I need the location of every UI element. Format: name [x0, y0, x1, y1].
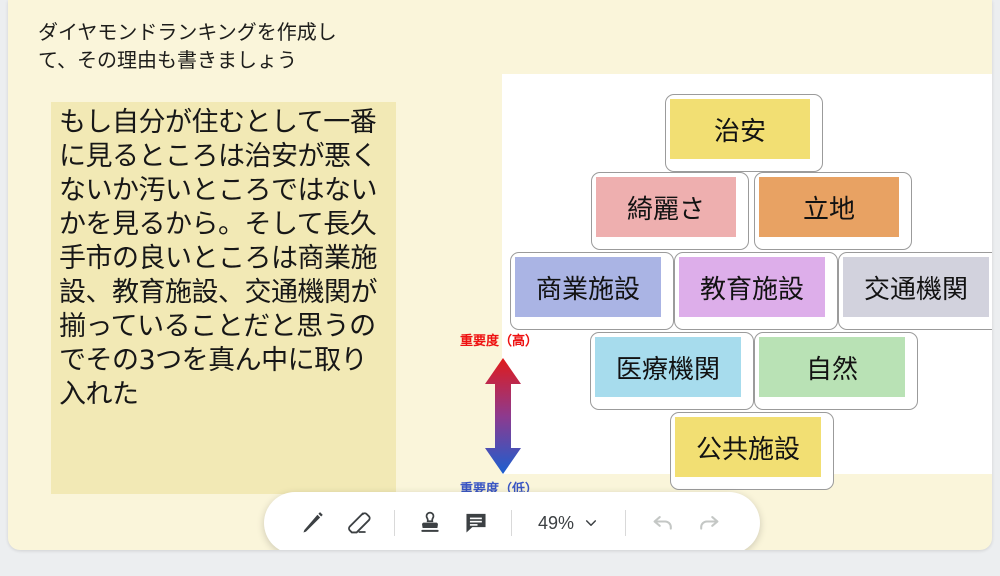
rank-box-fill: 商業施設 [515, 257, 661, 317]
rank-box-label: 治安 [714, 111, 766, 148]
rank-box-fill: 立地 [759, 177, 899, 237]
rank-box[interactable]: 商業施設 [510, 252, 674, 330]
diamond-ranking-panel: 治安綺麗さ立地商業施設教育施設交通機関医療機関自然公共施設 [502, 74, 992, 474]
rank-box-label: 医療機関 [616, 349, 720, 386]
rank-box-fill: 医療機関 [595, 337, 741, 397]
rank-box-label: 商業施設 [536, 269, 640, 306]
rank-box-label: 自然 [806, 349, 858, 386]
zoom-level-dropdown[interactable]: 49% [524, 503, 613, 543]
eraser-icon [346, 510, 372, 536]
undo-button[interactable] [640, 500, 686, 546]
reason-textbox[interactable]: もし自分が住むとして一番に見るところは治安が悪くないか汚いところではないかを見る… [51, 102, 396, 494]
rank-box[interactable]: 交通機関 [838, 252, 992, 330]
rank-box-fill: 綺麗さ [596, 177, 736, 237]
rank-box[interactable]: 治安 [665, 94, 823, 172]
importance-scale: 重要度（高） 重要度（低） [460, 330, 570, 498]
rank-box[interactable]: 立地 [754, 172, 912, 250]
comment-tool-button[interactable] [453, 500, 499, 546]
rank-box-label: 綺麗さ [627, 189, 705, 226]
stamp-tool-button[interactable] [407, 500, 453, 546]
redo-icon [696, 510, 722, 536]
rank-box[interactable]: 教育施設 [674, 252, 838, 330]
zoom-level-value: 49% [538, 513, 574, 534]
eraser-tool-button[interactable] [336, 500, 382, 546]
rank-box[interactable]: 公共施設 [670, 412, 834, 490]
comment-icon [463, 510, 489, 536]
rank-box-label: 公共施設 [696, 429, 800, 466]
double-headed-vertical-arrow-icon [484, 358, 522, 474]
stamp-icon [417, 510, 443, 536]
toolbar-divider-3 [625, 510, 626, 536]
rank-box[interactable]: 医療機関 [590, 332, 754, 410]
rank-box-fill: 自然 [759, 337, 905, 397]
undo-icon [650, 510, 676, 536]
page-title: ダイヤモンドランキングを作成し て、その理由も書きましょう [38, 18, 408, 75]
rank-box-fill: 交通機関 [843, 257, 989, 317]
pen-icon [300, 510, 326, 536]
rank-box-fill: 教育施設 [679, 257, 825, 317]
rank-box[interactable]: 綺麗さ [591, 172, 749, 250]
rank-box-label: 教育施設 [700, 269, 804, 306]
importance-high-label: 重要度（高） [460, 330, 538, 349]
rank-box-fill: 治安 [670, 99, 810, 159]
rank-box-fill: 公共施設 [675, 417, 821, 477]
chevron-down-icon [583, 515, 599, 531]
document-page: ダイヤモンドランキングを作成し て、その理由も書きましょう もし自分が住むとして… [8, 0, 992, 550]
rank-box[interactable]: 自然 [754, 332, 918, 410]
toolbar-divider-2 [511, 510, 512, 536]
rank-box-label: 交通機関 [864, 269, 968, 306]
reason-textbox-text: もし自分が住むとして一番に見るところは治安が悪くないか汚いところではないかを見る… [59, 106, 389, 412]
toolbar-divider-1 [394, 510, 395, 536]
redo-button[interactable] [686, 500, 732, 546]
annotation-toolbar: 49% [264, 492, 760, 550]
pen-tool-button[interactable] [290, 500, 336, 546]
rank-box-label: 立地 [803, 189, 855, 226]
